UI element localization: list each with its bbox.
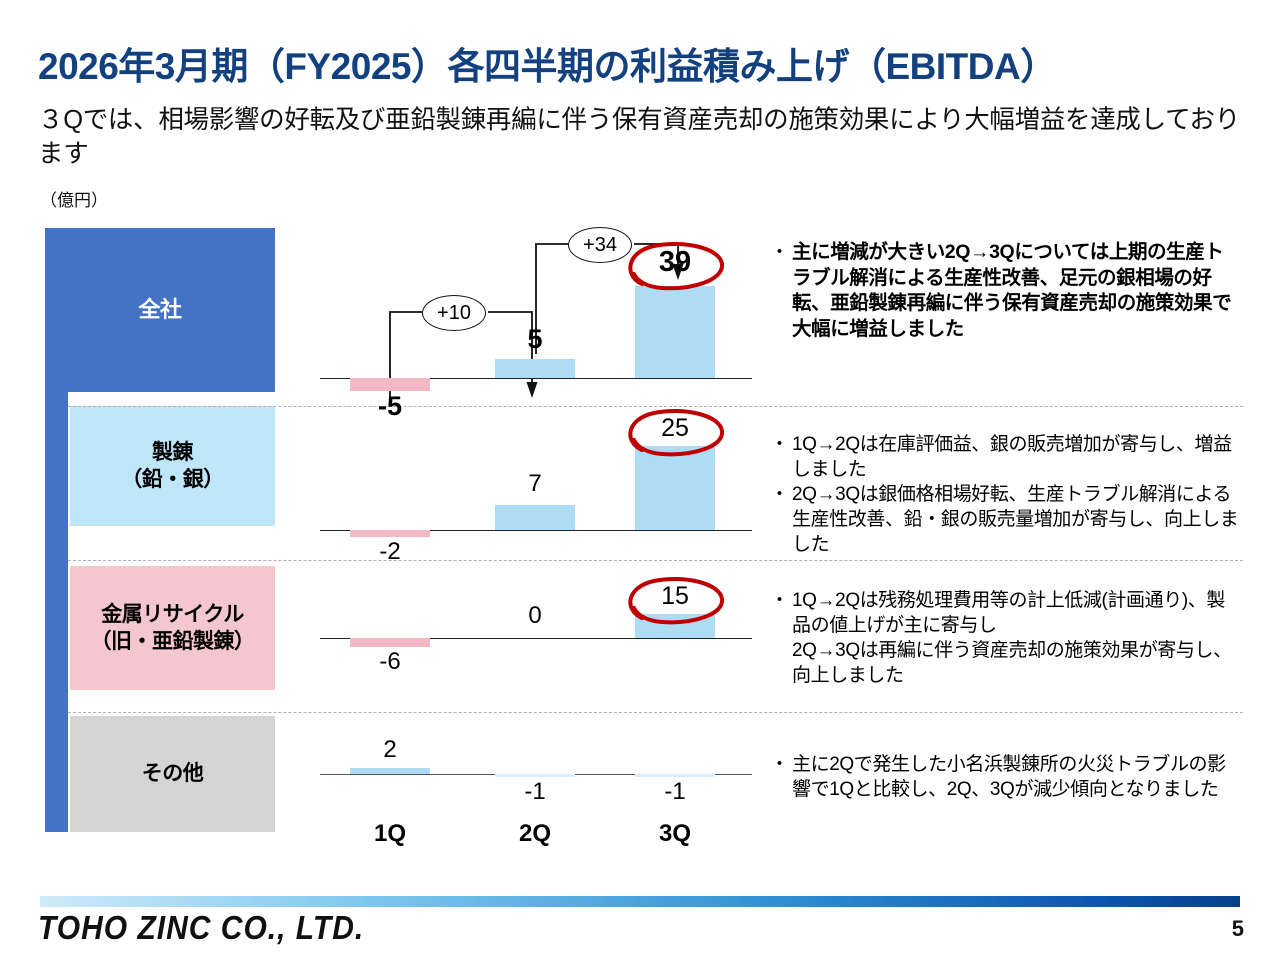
axis-tick-2q: 2Q [475, 820, 595, 848]
bar-2q [495, 359, 575, 378]
bar-1q [350, 378, 430, 391]
chart-company: +10 +34 -5 5 39 [310, 228, 750, 392]
page-subtitle: ３Qでは、相場影響の好転及び亜鉛製錬再編に伴う保有資産売却の施策効果により大幅増… [38, 104, 1253, 172]
commentary-smelting: ・ 1Q→2Qは在庫評価益、銀の販売増加が寄与し、増益しました ・ 2Q→3Qは… [770, 432, 1240, 557]
value-label-3q: 15 [615, 582, 735, 611]
commentary-company: ・ 主に増減が大きい2Q→3Qについては上期の生産トラブル解消による生産性改善、… [770, 240, 1240, 343]
bullet-text: 2Q→3Qは銀価格相場好転、生産トラブル解消による生産性改善、鉛・銀の販売量増加… [792, 482, 1240, 557]
category-label-text-line2: （旧・亜鉛製錬） [91, 628, 255, 655]
bar-3q [635, 614, 715, 638]
bullet-text: 1Q→2Qは残務処理費用等の計上低減(計画通り)、製品の値上げが主に寄与し [792, 588, 1240, 638]
chart-other: 2 -1 -1 1Q 2Q 3Q [310, 716, 750, 836]
value-label-1q: -2 [330, 538, 450, 566]
commentary-bullet: 2Q→3Qは再編に伴う資産売却の施策効果が寄与し、向上しました [770, 638, 1240, 688]
value-label-3q: 39 [615, 246, 735, 279]
row-separator [68, 712, 1243, 713]
value-label-3q: 25 [615, 414, 735, 443]
bar-3q [635, 286, 715, 378]
chart-recycle: -6 0 15 [310, 566, 750, 712]
commentary-other: ・ 主に2Qで発生した小名浜製錬所の火災トラブルの影響で1Qと比較し、2Q、3Q… [770, 752, 1240, 802]
commentary-bullet: ・ 2Q→3Qは銀価格相場好転、生産トラブル解消による生産性改善、鉛・銀の販売量… [770, 482, 1240, 557]
row-separator [68, 560, 1243, 561]
category-label-smelting: 製錬 （鉛・銀） [70, 406, 275, 526]
company-logo-text: TOHO ZINC CO., LTD. [38, 910, 364, 948]
bar-2q [495, 774, 575, 777]
value-label-2q: 5 [475, 324, 595, 355]
page-number: 5 [1232, 916, 1244, 942]
bar-2q [495, 505, 575, 530]
bullet-marker: ・ [770, 588, 792, 613]
value-label-2q: -1 [475, 778, 595, 806]
slide-root: 2026年3月期（FY2025）各四半期の利益積み上げ（EBITDA） ３Qでは… [0, 0, 1280, 960]
category-label-text: その他 [142, 760, 204, 787]
category-label-text-line1: 金属リサイクル [91, 601, 255, 628]
delta-value: +10 [437, 302, 471, 325]
category-label-recycle: 金属リサイクル （旧・亜鉛製錬） [70, 566, 275, 690]
bullet-marker: ・ [770, 432, 792, 457]
bullet-text: 主に2Qで発生した小名浜製錬所の火災トラブルの影響で1Qと比較し、2Q、3Qが減… [792, 752, 1240, 802]
bullet-marker: ・ [770, 240, 792, 265]
category-label-text-line2: （鉛・銀） [121, 466, 224, 493]
chart-smelting: -2 7 25 [310, 412, 750, 560]
bar-3q [635, 774, 715, 777]
bar-1q [350, 638, 430, 647]
axis-tick-1q: 1Q [330, 820, 450, 848]
commentary-bullet: ・ 1Q→2Qは在庫評価益、銀の販売増加が寄与し、増益しました [770, 432, 1240, 482]
delta-value: +34 [583, 234, 617, 257]
category-label-text-line1: 製錬 [121, 439, 224, 466]
value-label-2q: 7 [475, 470, 595, 498]
category-label-text: 全社 [138, 296, 181, 325]
page-title: 2026年3月期（FY2025）各四半期の利益積み上げ（EBITDA） [38, 36, 1057, 90]
category-label-company: 全社 [45, 228, 275, 392]
axis-tick-3q: 3Q [615, 820, 735, 848]
footer-gradient-bar [40, 896, 1240, 907]
value-label-2q: 0 [475, 602, 595, 630]
value-label-3q: -1 [615, 778, 735, 806]
unit-label: （億円） [40, 186, 108, 211]
commentary-bullet: ・ 主に2Qで発生した小名浜製錬所の火災トラブルの影響で1Qと比較し、2Q、3Q… [770, 752, 1240, 802]
bullet-text: 1Q→2Qは在庫評価益、銀の販売増加が寄与し、増益しました [792, 432, 1240, 482]
bullet-text: 主に増減が大きい2Q→3Qについては上期の生産トラブル解消による生産性改善、足元… [792, 240, 1240, 343]
row-separator [68, 406, 1243, 407]
commentary-bullet: ・ 1Q→2Qは残務処理費用等の計上低減(計画通り)、製品の値上げが主に寄与し [770, 588, 1240, 638]
category-label-other: その他 [70, 716, 275, 832]
value-label-1q: 2 [330, 736, 450, 764]
bar-1q [350, 530, 430, 537]
bullet-marker: ・ [770, 482, 792, 507]
value-label-1q: -6 [330, 648, 450, 676]
bullet-text: 2Q→3Qは再編に伴う資産売却の施策効果が寄与し、向上しました [792, 638, 1240, 688]
bullet-marker: ・ [770, 752, 792, 777]
bar-1q [350, 768, 430, 774]
bar-3q [635, 446, 715, 530]
commentary-bullet: ・ 主に増減が大きい2Q→3Qについては上期の生産トラブル解消による生産性改善、… [770, 240, 1240, 343]
commentary-recycle: ・ 1Q→2Qは残務処理費用等の計上低減(計画通り)、製品の値上げが主に寄与し … [770, 588, 1240, 688]
